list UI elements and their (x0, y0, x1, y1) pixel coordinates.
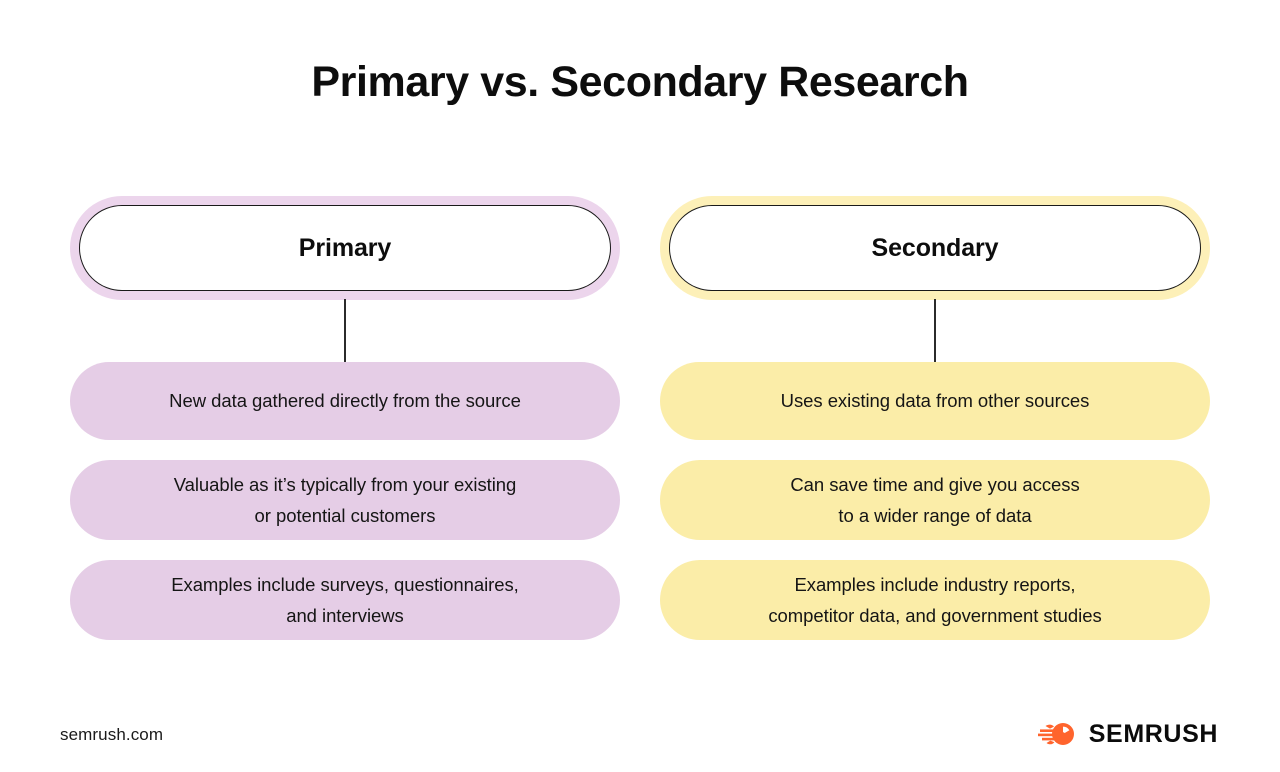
header-pill-secondary: Secondary (660, 196, 1210, 300)
content-line: to a wider range of data (790, 500, 1079, 531)
content-pill-secondary-2: Can save time and give you access to a w… (660, 460, 1210, 540)
connector-secondary (660, 300, 1210, 362)
content-pill-text: Uses existing data from other sources (781, 385, 1090, 416)
footer-url: semrush.com (60, 725, 163, 745)
content-line: New data gathered directly from the sour… (169, 385, 521, 416)
content-pill-secondary-1: Uses existing data from other sources (660, 362, 1210, 440)
content-pill-text: Can save time and give you access to a w… (790, 469, 1079, 531)
infographic-canvas: Primary vs. Secondary Research Primary N… (0, 0, 1280, 772)
connector-line (934, 299, 936, 362)
content-pill-text: New data gathered directly from the sour… (169, 385, 521, 416)
semrush-wordmark: SEMRUSH (1089, 722, 1218, 747)
content-line: Examples include industry reports, (768, 569, 1101, 600)
semrush-logo: SEMRUSH (1038, 719, 1218, 749)
spacer (70, 440, 620, 460)
header-pill-primary: Primary (70, 196, 620, 300)
content-pill-text: Examples include industry reports, compe… (768, 569, 1101, 631)
header-label-primary: Primary (299, 234, 391, 263)
content-line: Uses existing data from other sources (781, 385, 1090, 416)
content-pill-primary-3: Examples include surveys, questionnaires… (70, 560, 620, 640)
semrush-comet-icon (1038, 719, 1078, 749)
content-line: and interviews (171, 600, 519, 631)
content-line: or potential customers (174, 500, 517, 531)
spacer (660, 440, 1210, 460)
content-pill-primary-2: Valuable as it’s typically from your exi… (70, 460, 620, 540)
content-line: competitor data, and government studies (768, 600, 1101, 631)
page-title: Primary vs. Secondary Research (0, 58, 1280, 107)
content-pill-secondary-3: Examples include industry reports, compe… (660, 560, 1210, 640)
spacer (70, 540, 620, 560)
content-pill-text: Valuable as it’s typically from your exi… (174, 469, 517, 531)
column-secondary: Secondary Uses existing data from other … (660, 196, 1210, 640)
content-pill-primary-1: New data gathered directly from the sour… (70, 362, 620, 440)
header-label-secondary: Secondary (872, 234, 999, 263)
content-line: Can save time and give you access (790, 469, 1079, 500)
content-line: Valuable as it’s typically from your exi… (174, 469, 517, 500)
content-pill-text: Examples include surveys, questionnaires… (171, 569, 519, 631)
connector-line (344, 299, 346, 362)
column-primary: Primary New data gathered directly from … (70, 196, 620, 640)
content-line: Examples include surveys, questionnaires… (171, 569, 519, 600)
spacer (660, 540, 1210, 560)
connector-primary (70, 300, 620, 362)
